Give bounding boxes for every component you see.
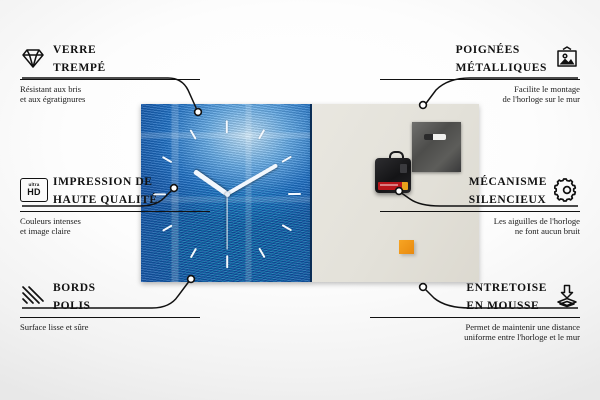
callout-divider xyxy=(380,211,580,212)
callout-desc-line: uniforme entre l'horloge et le mur xyxy=(370,332,580,342)
callout-title: POIGNÉES MÉTALLIQUES xyxy=(456,40,547,76)
callout-title: VERRE TREMPÉ xyxy=(53,40,106,76)
callout-divider xyxy=(370,317,580,318)
callout-verre-trempe[interactable]: VERRE TREMPÉ Résistant aux bris et aux é… xyxy=(20,40,200,105)
callout-title: MÉCANISME SILENCIEUX xyxy=(469,172,547,208)
callout-header: MÉCANISME SILENCIEUX xyxy=(380,172,580,208)
callout-divider xyxy=(20,211,210,212)
callout-desc-line: Les aiguilles de l'horloge xyxy=(380,216,580,226)
ultra-hd-badge-icon: ultra HD xyxy=(20,178,46,202)
clock-tick xyxy=(226,255,228,268)
callout-desc-line: Couleurs intenses xyxy=(20,216,210,226)
callout-mecanisme-silencieux[interactable]: MÉCANISME SILENCIEUX Les aiguilles de l'… xyxy=(380,172,580,237)
polished-edges-icon xyxy=(20,284,46,308)
gear-icon xyxy=(554,178,580,202)
callout-impression-hd[interactable]: ultra HD IMPRESSION DE HAUTE QUALITÉ Cou… xyxy=(20,172,210,237)
diamond-icon xyxy=(20,46,46,70)
foam-spacer-pad xyxy=(399,240,414,254)
callout-header: POIGNÉES MÉTALLIQUES xyxy=(380,40,580,76)
callout-title: IMPRESSION DE HAUTE QUALITÉ xyxy=(53,172,158,208)
callout-desc-line: et image claire xyxy=(20,226,210,236)
callout-divider xyxy=(380,79,580,80)
callout-desc-line: Facilite le montage xyxy=(380,84,580,94)
clock-center-hub xyxy=(225,192,230,197)
badge-hd-label: HD xyxy=(27,188,41,197)
clock-second-hand xyxy=(226,194,227,250)
callout-divider xyxy=(20,317,200,318)
callout-entretoise-en-mousse[interactable]: ENTRETOISE EN MOUSSE Permet de maintenir… xyxy=(370,278,580,343)
callout-divider xyxy=(20,79,200,80)
callout-title: BORDS POLIS xyxy=(53,278,96,314)
callout-desc-line: ne font aucun bruit xyxy=(380,226,580,236)
callout-desc-line: Résistant aux bris xyxy=(20,84,200,94)
callout-desc-line: de l'horloge sur le mur xyxy=(380,94,580,104)
callout-desc-line: Permet de maintenir une distance xyxy=(370,322,580,332)
callout-header: ultra HD IMPRESSION DE HAUTE QUALITÉ xyxy=(20,172,210,208)
hanger-plate xyxy=(412,122,461,172)
callout-desc-line: Surface lisse et sûre xyxy=(20,322,200,332)
foam-spacer-icon xyxy=(554,284,580,308)
callout-poignees-metalliques[interactable]: POIGNÉES MÉTALLIQUES Facilite le montage… xyxy=(380,40,580,105)
callout-desc-line: et aux égratignures xyxy=(20,94,200,104)
hanger-slot xyxy=(424,134,446,140)
callout-header: VERRE TREMPÉ xyxy=(20,40,200,76)
callout-bords-polis[interactable]: BORDS POLIS Surface lisse et sûre xyxy=(20,278,200,332)
picture-hanger-icon xyxy=(554,46,580,70)
callout-header: ENTRETOISE EN MOUSSE xyxy=(370,278,580,314)
callout-title: ENTRETOISE EN MOUSSE xyxy=(466,278,547,314)
infographic-canvas: VERRE TREMPÉ Résistant aux bris et aux é… xyxy=(0,0,600,400)
callout-header: BORDS POLIS xyxy=(20,278,200,314)
